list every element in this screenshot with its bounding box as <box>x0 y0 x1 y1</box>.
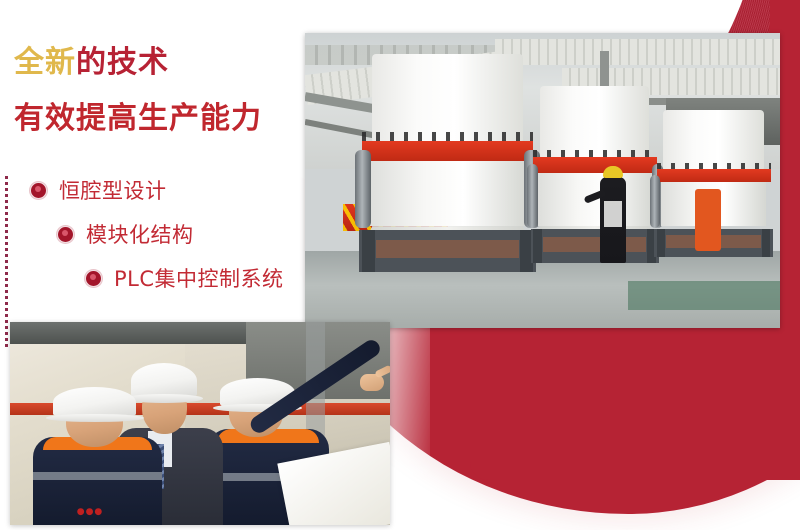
headline-line-1: 全新的技术 <box>14 48 169 78</box>
crusher-hopper <box>663 110 763 169</box>
headline-line-2: 有效提高生产能力 <box>14 104 262 134</box>
cone-crusher-mid <box>533 86 657 263</box>
headline-highlight: 全新 <box>14 45 76 80</box>
hard-hat <box>603 166 623 178</box>
white-hard-hat <box>53 387 136 417</box>
steel-support-frame <box>359 230 537 271</box>
white-hard-hat <box>131 363 197 399</box>
cone-crusher-front <box>362 54 533 272</box>
list-item: 恒腔型设计 <box>0 168 300 212</box>
crusher-hopper <box>540 86 649 157</box>
frame-interior <box>376 240 518 258</box>
list-item: PLC集中控制系统 <box>0 256 300 300</box>
feature-list: 恒腔型设计 模块化结构 PLC集中控制系统 <box>0 168 300 300</box>
crusher-body <box>369 161 526 226</box>
crusher-red-band <box>533 157 657 173</box>
promo-banner: 全新的技术 有效提高生产能力 恒腔型设计 模块化结构 PLC集中控制系统 <box>0 0 800 530</box>
feature-label: 模块化结构 <box>86 219 194 249</box>
reflective-stripe <box>33 472 162 480</box>
hydraulic-cylinder <box>355 150 370 229</box>
hydraulic-cylinder <box>527 164 538 228</box>
feature-label: PLC集中控制系统 <box>114 263 284 293</box>
wall-panel <box>495 39 780 66</box>
target-dot-icon <box>85 270 102 287</box>
worker-figure <box>600 177 626 263</box>
steel-support-frame <box>531 229 659 263</box>
photo-engineers-inspection: ●●● <box>10 322 390 525</box>
target-dot-icon <box>30 182 47 199</box>
hydraulic-cylinder <box>650 175 660 228</box>
crusher-hopper <box>372 54 522 141</box>
id-badge <box>604 201 622 227</box>
photo-factory-cone-crushers <box>305 33 780 328</box>
uniform-logo: ●●● <box>77 507 104 517</box>
list-item: 模块化结构 <box>0 212 300 256</box>
engineer-front: ●●● <box>33 399 162 525</box>
target-dot-icon <box>57 226 74 243</box>
green-floor-marking <box>628 281 780 311</box>
frame-interior <box>543 237 646 252</box>
orange-equipment <box>695 189 721 251</box>
feature-label: 恒腔型设计 <box>59 175 167 205</box>
crusher-red-band <box>657 169 771 182</box>
crusher-red-band <box>362 141 533 161</box>
headline-rest: 的技术 <box>76 45 169 80</box>
